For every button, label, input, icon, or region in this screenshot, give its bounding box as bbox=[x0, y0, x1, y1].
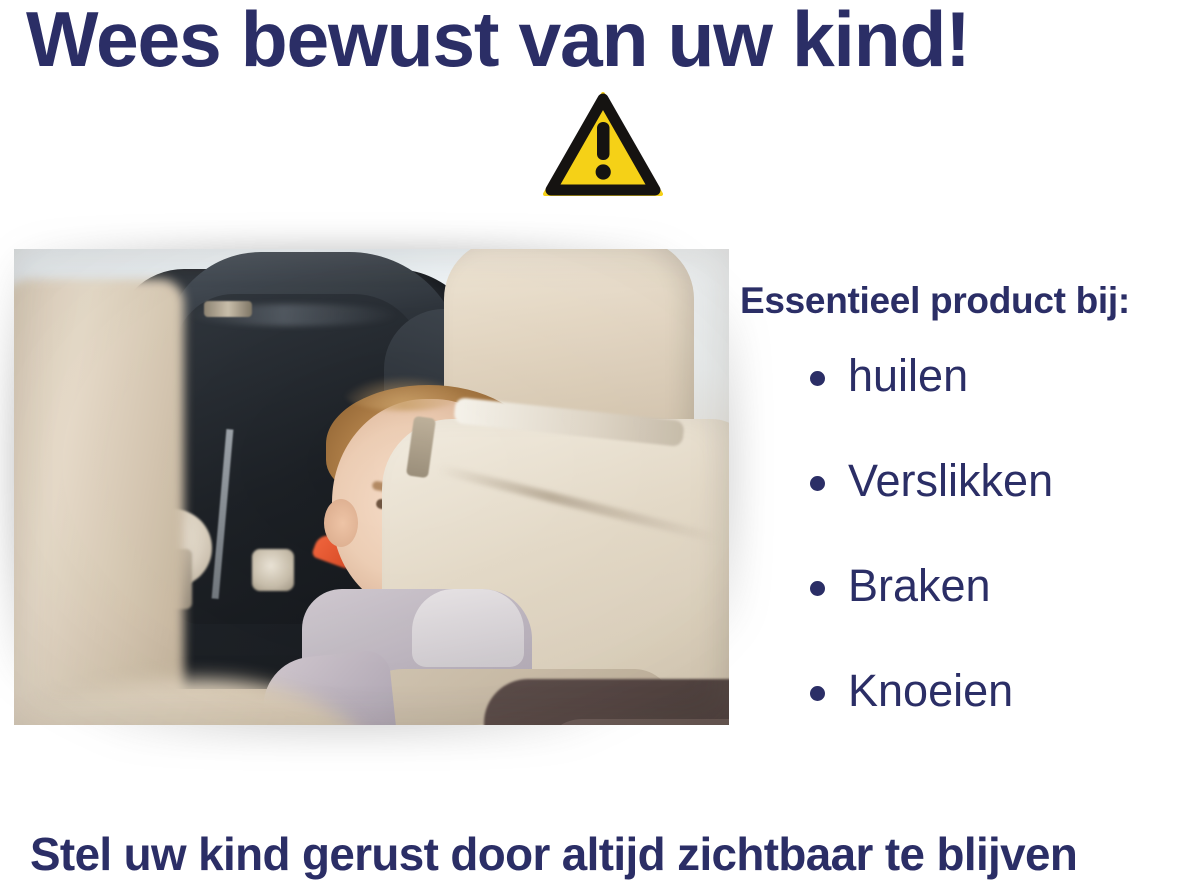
list-item: huilen bbox=[740, 348, 1196, 453]
photo-baby-in-car-seat bbox=[14, 249, 729, 725]
warning-triangle-icon bbox=[543, 92, 663, 198]
essential-product-list: huilen Verslikken Braken Knoeien bbox=[740, 348, 1196, 768]
list-item: Verslikken bbox=[740, 453, 1196, 558]
photo-tone-overlay bbox=[14, 249, 729, 725]
list-item: Braken bbox=[740, 558, 1196, 663]
page-title: Wees bewust van uw kind! bbox=[26, 0, 1169, 82]
slide-root: Wees bewust van uw kind! bbox=[0, 0, 1200, 887]
list-heading: Essentieel product bij: bbox=[740, 278, 1196, 324]
bottom-caption: Stel uw kind gerust door altijd zichtbaa… bbox=[30, 826, 1174, 882]
list-item: Knoeien bbox=[740, 663, 1196, 768]
